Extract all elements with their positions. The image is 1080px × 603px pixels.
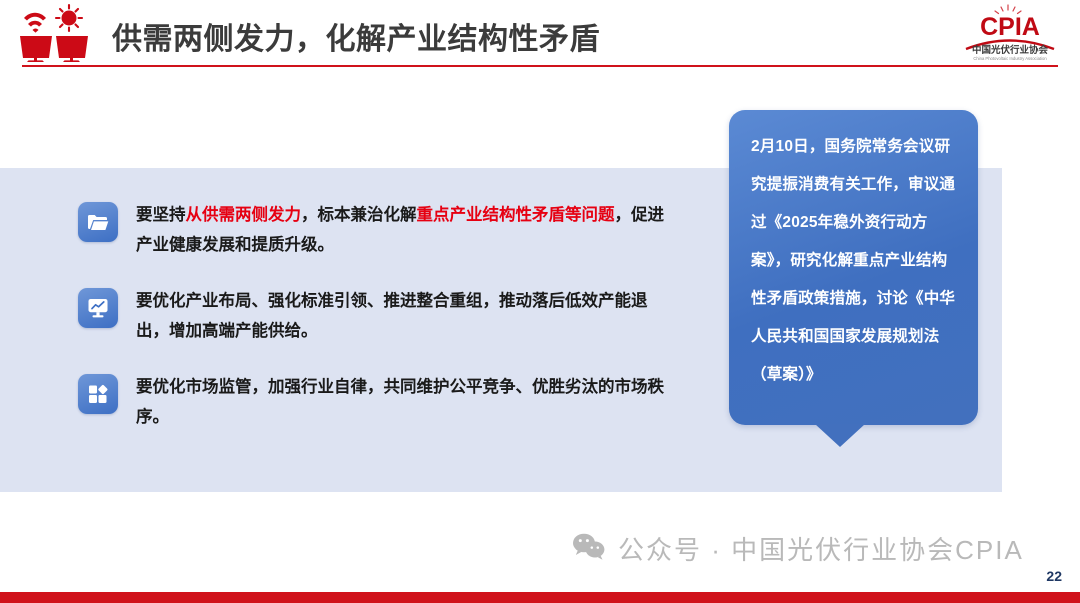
cpia-acronym: CPIA xyxy=(980,13,1040,41)
bullet-list: 要坚持从供需两侧发力，标本兼治化解重点产业结构性矛盾等问题，促进产业健康发展和提… xyxy=(78,200,678,458)
watermark: 公众号 · 中国光伏行业协会CPIA xyxy=(572,530,1024,567)
cpia-logo: CPIA 中国光伏行业协会 China Photovoltaic Industr… xyxy=(958,4,1062,62)
chart-monitor-icon xyxy=(78,288,118,328)
bullet-text-2: 要优化产业布局、强化标准引领、推进整合重组，推动落后低效产能退出，增加高端产能供… xyxy=(136,286,666,346)
body-phrase: 要优化产业布局、强化标准引领、推进整合重组，推动落后低效产能退出，增加高端产能供… xyxy=(136,292,648,340)
body-phrase: 要优化市场监管，加强行业自律，共同维护公平竞争、优胜劣汰的市场秩序。 xyxy=(136,378,664,426)
slide-canvas: 供需两侧发力，化解产业结构性矛盾 CPIA 中国光伏行业协会 China Pho… xyxy=(0,0,1080,603)
callout-tail xyxy=(815,424,865,447)
list-item: 要优化产业布局、强化标准引领、推进整合重组，推动落后低效产能退出，增加高端产能供… xyxy=(78,286,678,346)
list-item: 要优化市场监管，加强行业自律，共同维护公平竞争、优胜劣汰的市场秩序。 xyxy=(78,372,678,432)
folder-icon xyxy=(78,202,118,242)
bullet-text-1: 要坚持从供需两侧发力，标本兼治化解重点产业结构性矛盾等问题，促进产业健康发展和提… xyxy=(136,200,666,260)
cpia-chinese-name: 中国光伏行业协会 xyxy=(972,44,1049,56)
page-title: 供需两侧发力，化解产业结构性矛盾 xyxy=(112,14,600,58)
wechat-icon xyxy=(572,532,606,565)
grid-dashboard-icon xyxy=(78,374,118,414)
watermark-text: 公众号 · 中国光伏行业协会CPIA xyxy=(618,530,1024,567)
solar-panel-icon xyxy=(14,2,98,64)
bullet-text-3: 要优化市场监管，加强行业自律，共同维护公平竞争、优胜劣汰的市场秩序。 xyxy=(136,372,666,432)
page-number: 22 xyxy=(1046,568,1062,584)
body-phrase: 要坚持 xyxy=(136,206,186,224)
highlighted-phrase: 从供需两侧发力 xyxy=(186,206,302,224)
body-phrase: ，标本兼治化解 xyxy=(301,206,417,224)
header-divider xyxy=(22,65,1058,67)
callout-text: 2月10日，国务院常务会议研究提振消费有关工作，审议通过《2025年稳外资行动方… xyxy=(729,110,978,394)
highlighted-phrase: 重点产业结构性矛盾等问题 xyxy=(417,206,615,224)
list-item: 要坚持从供需两侧发力，标本兼治化解重点产业结构性矛盾等问题，促进产业健康发展和提… xyxy=(78,200,678,260)
footer-bar xyxy=(0,592,1080,603)
cpia-english-name: China Photovoltaic Industry Association xyxy=(973,56,1047,61)
callout-box: 2月10日，国务院常务会议研究提振消费有关工作，审议通过《2025年稳外资行动方… xyxy=(729,110,978,425)
